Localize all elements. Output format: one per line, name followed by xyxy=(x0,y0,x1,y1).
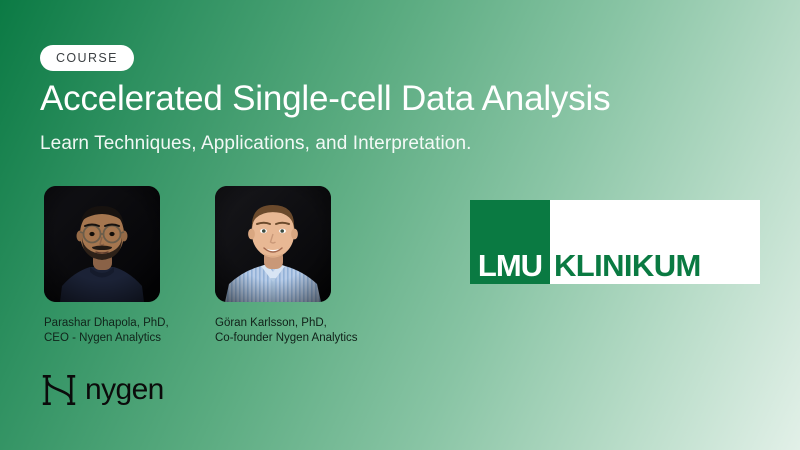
klinikum-logo-text: KLINIKUM xyxy=(554,250,701,281)
course-banner: COURSE Accelerated Single-cell Data Anal… xyxy=(0,0,800,450)
speaker-card: Göran Karlsson, PhD, Co-founder Nygen An… xyxy=(215,186,331,302)
lmu-klinikum-logo: LMU KLINIKUM xyxy=(470,200,760,284)
speaker-name: Parashar Dhapola, PhD, CEO - Nygen Analy… xyxy=(44,316,169,346)
nygen-n-mark-icon xyxy=(42,372,76,408)
nygen-logo: nygen xyxy=(42,372,164,408)
speaker-name-line2: Co-founder Nygen Analytics xyxy=(215,331,358,346)
speaker-name-line1: Parashar Dhapola, PhD, xyxy=(44,316,169,331)
page-title: Accelerated Single-cell Data Analysis xyxy=(40,78,610,120)
speaker-card: Parashar Dhapola, PhD, CEO - Nygen Analy… xyxy=(44,186,160,302)
page-subtitle: Learn Techniques, Applications, and Inte… xyxy=(40,130,472,158)
speaker-name: Göran Karlsson, PhD, Co-founder Nygen An… xyxy=(215,316,358,346)
klinikum-logo-block: KLINIKUM xyxy=(550,200,760,284)
nygen-wordmark: nygen xyxy=(85,375,164,405)
course-badge: COURSE xyxy=(40,45,134,71)
lmu-logo-block: LMU xyxy=(470,200,550,284)
avatar xyxy=(215,186,331,302)
speaker-name-line1: Göran Karlsson, PhD, xyxy=(215,316,358,331)
speaker-name-line2: CEO - Nygen Analytics xyxy=(44,331,169,346)
avatar xyxy=(44,186,160,302)
lmu-logo-text: LMU xyxy=(478,250,542,281)
